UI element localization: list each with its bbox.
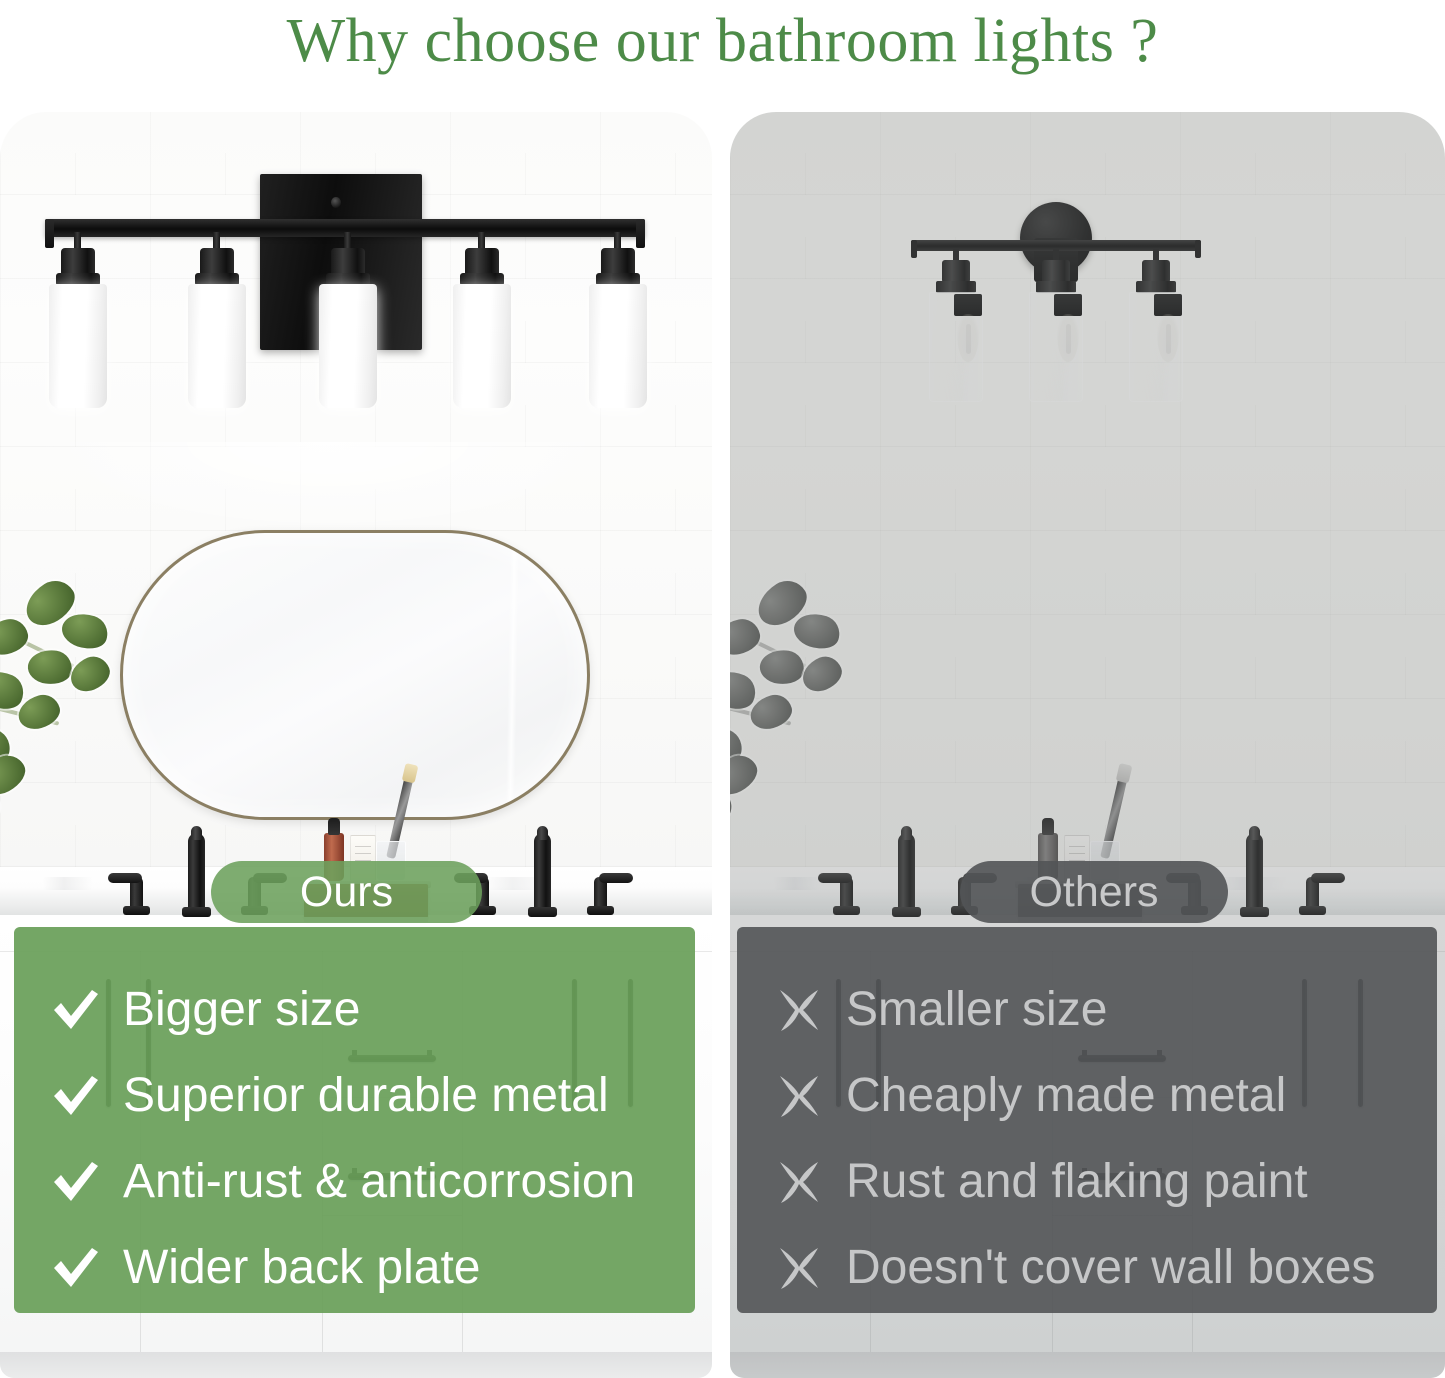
cross-icon (774, 1246, 824, 1290)
badge-others: Others (960, 861, 1228, 923)
badge-ours: Ours (211, 861, 482, 923)
comparison-infographic: Why choose our bathroom lights ? (0, 0, 1445, 1378)
feature-label: Cheaply made metal (846, 1072, 1286, 1120)
feature-row: Bigger size (14, 967, 695, 1053)
feature-row: Rust and flaking paint (737, 1139, 1437, 1225)
badge-label: Others (1029, 871, 1158, 914)
features-others: Smaller size Cheaply made metal Rust and… (737, 927, 1437, 1313)
opal-shade (453, 284, 511, 408)
check-icon (51, 989, 101, 1031)
faucet-right (476, 802, 616, 917)
check-icon (51, 1247, 101, 1289)
feature-row: Wider back plate (14, 1225, 695, 1311)
pill-shaped-mirror (120, 530, 590, 820)
feature-row: Superior durable metal (14, 1053, 695, 1139)
panel-ours: Bigger size Superior durable metal Anti-… (0, 112, 712, 1378)
check-icon (51, 1075, 101, 1117)
page-title: Why choose our bathroom lights ? (0, 0, 1445, 82)
check-icon (51, 1161, 101, 1203)
screw-icon (331, 197, 341, 208)
cross-icon (774, 988, 824, 1032)
feature-label: Rust and flaking paint (846, 1158, 1308, 1206)
cross-icon (774, 1160, 824, 1204)
feature-label: Anti-rust & anticorrosion (123, 1158, 635, 1206)
feature-label: Doesn't cover wall boxes (846, 1244, 1375, 1292)
feature-label: Bigger size (123, 986, 360, 1034)
feature-label: Smaller size (846, 986, 1107, 1034)
feature-row: Doesn't cover wall boxes (737, 1225, 1437, 1311)
three-light-vanity-fixture (906, 202, 1216, 372)
feature-label: Wider back plate (123, 1244, 481, 1292)
opal-shade (589, 284, 647, 408)
opal-shade (49, 284, 107, 408)
feature-row: Cheaply made metal (737, 1053, 1437, 1139)
feature-row: Smaller size (737, 967, 1437, 1053)
feature-row: Anti-rust & anticorrosion (14, 1139, 695, 1225)
feature-label: Superior durable metal (123, 1072, 609, 1120)
features-ours: Bigger size Superior durable metal Anti-… (14, 927, 695, 1313)
opal-shade (188, 284, 246, 408)
badge-label: Ours (300, 871, 393, 914)
faucet-left (840, 802, 980, 917)
opal-shade (319, 284, 377, 408)
panel-others: Smaller size Cheaply made metal Rust and… (730, 112, 1445, 1378)
five-light-vanity-fixture (28, 174, 668, 424)
cross-icon (774, 1074, 824, 1118)
